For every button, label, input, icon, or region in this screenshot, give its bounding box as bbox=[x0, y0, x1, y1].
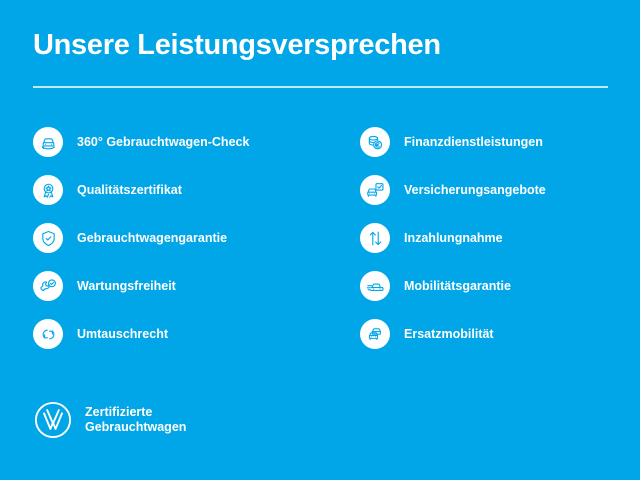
brand-text: Zertifizierte Gebrauchtwagen bbox=[85, 405, 186, 435]
list-item-label: Umtauschrecht bbox=[77, 326, 168, 342]
list-item-label: Qualitätszertifikat bbox=[77, 182, 182, 198]
list-item-label: Ersatzmobilität bbox=[404, 326, 494, 342]
promises-column-right: Finanzdienstleistungen Versicherungsange… bbox=[360, 118, 630, 358]
list-item-label: Inzahlungnahme bbox=[404, 230, 503, 246]
header-divider bbox=[33, 86, 608, 88]
volkswagen-logo bbox=[33, 400, 73, 440]
shield-check-icon bbox=[33, 223, 63, 253]
list-item: Qualitätszertifikat bbox=[33, 166, 333, 214]
list-item: Mobilitätsgarantie bbox=[360, 262, 630, 310]
header: Unsere Leistungsversprechen bbox=[33, 28, 608, 62]
exchange-arrows-icon bbox=[33, 319, 63, 349]
two-cars-icon bbox=[360, 319, 390, 349]
list-item-label: Wartungsfreiheit bbox=[77, 278, 176, 294]
list-item: Versicherungsangebote bbox=[360, 166, 630, 214]
list-item: 360° Gebrauchtwagen-Check bbox=[33, 118, 333, 166]
car-document-check-icon bbox=[360, 175, 390, 205]
award-rosette-icon bbox=[33, 175, 63, 205]
list-item-label: Mobilitätsgarantie bbox=[404, 278, 511, 294]
list-item-label: Versicherungsangebote bbox=[404, 182, 546, 198]
promise-slide: Unsere Leistungsversprechen 360° Gebrauc… bbox=[0, 0, 640, 480]
car-motion-icon bbox=[360, 271, 390, 301]
brand-line-2: Gebrauchtwagen bbox=[85, 420, 186, 435]
list-item: Inzahlungnahme bbox=[360, 214, 630, 262]
list-item: Wartungsfreiheit bbox=[33, 262, 333, 310]
brand-line-1: Zertifizierte bbox=[85, 405, 186, 420]
car-360-check-icon bbox=[33, 127, 63, 157]
wrench-check-icon bbox=[33, 271, 63, 301]
promises-column-left: 360° Gebrauchtwagen-Check Qualitätszerti… bbox=[33, 118, 333, 358]
list-item: Gebrauchtwagengarantie bbox=[33, 214, 333, 262]
list-item: Umtauschrecht bbox=[33, 310, 333, 358]
arrows-up-down-icon bbox=[360, 223, 390, 253]
list-item: Finanzdienstleistungen bbox=[360, 118, 630, 166]
list-item-label: Gebrauchtwagengarantie bbox=[77, 230, 227, 246]
list-item-label: Finanzdienstleistungen bbox=[404, 134, 543, 150]
list-item: Ersatzmobilität bbox=[360, 310, 630, 358]
brand-footer: Zertifizierte Gebrauchtwagen bbox=[33, 400, 186, 440]
page-title: Unsere Leistungsversprechen bbox=[33, 28, 608, 62]
coins-euro-icon bbox=[360, 127, 390, 157]
list-item-label: 360° Gebrauchtwagen-Check bbox=[77, 134, 249, 150]
